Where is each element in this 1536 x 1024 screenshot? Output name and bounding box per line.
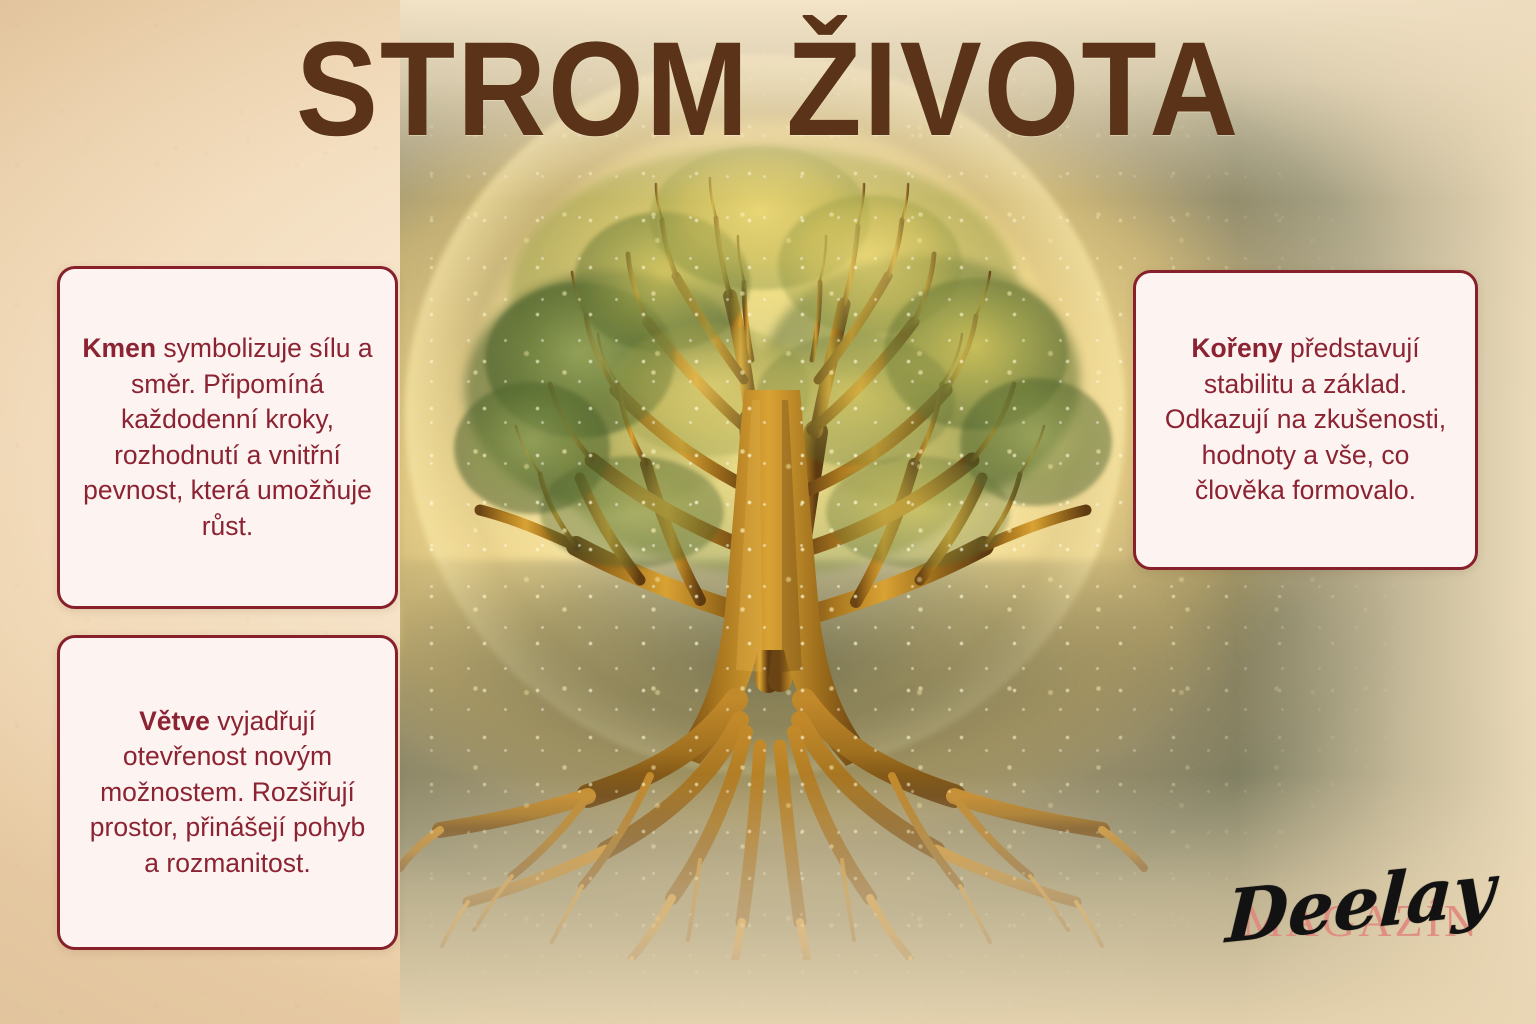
info-card-kmen: Kmen symbolizuje sílu a směr. Připomíná …: [57, 266, 398, 609]
info-card-kmen-lead: Kmen: [82, 333, 156, 363]
info-card-koreny-text: Kořeny představují stabilitu a základ. O…: [1156, 331, 1455, 509]
info-card-vetve-text: Větve vyjadřují otevřenost novým možnost…: [80, 704, 375, 882]
info-card-koreny-lead: Kořeny: [1191, 333, 1282, 363]
info-card-kmen-text: Kmen symbolizuje sílu a směr. Připomíná …: [80, 331, 375, 544]
info-card-koreny: Kořeny představují stabilitu a základ. O…: [1133, 270, 1478, 570]
info-card-kmen-body: symbolizuje sílu a směr. Připomíná každo…: [83, 333, 372, 541]
info-card-vetve-lead: Větve: [139, 706, 210, 736]
info-card-vetve-body: vyjadřují otevřenost novým možnostem. Ro…: [90, 706, 365, 878]
poster-root: STROM ŽIVOTA Kmen symbolizuje sílu a smě…: [0, 0, 1536, 1024]
page-title: STROM ŽIVOTA: [61, 22, 1474, 159]
info-card-vetve: Větve vyjadřují otevřenost novým možnost…: [57, 635, 398, 950]
